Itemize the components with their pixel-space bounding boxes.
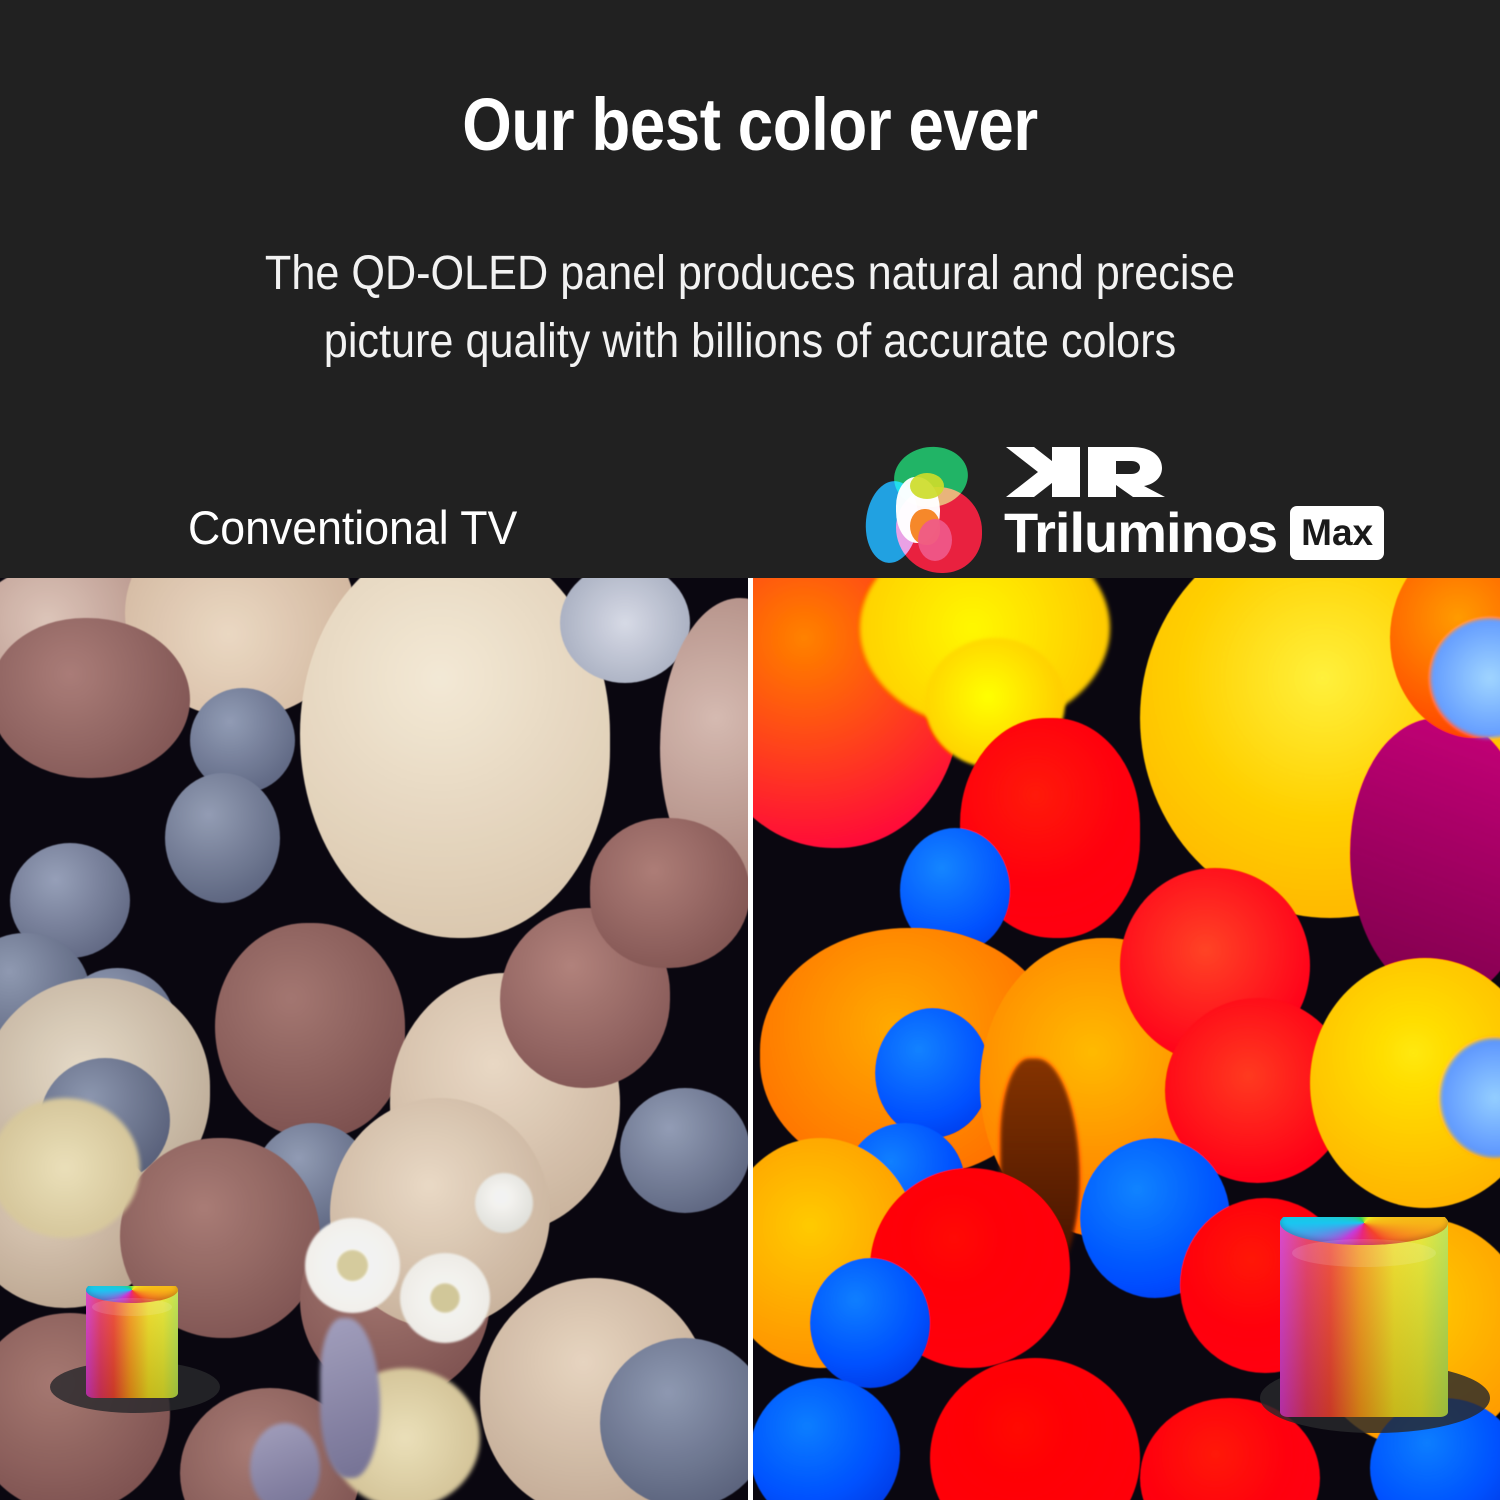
logo-blob-pink-icon [918, 519, 952, 561]
xr-triluminos-logo: Triluminos Max [866, 443, 1386, 575]
triluminos-color-blobs-icon [866, 447, 988, 573]
conventional-tv-label: Conventional TV [188, 500, 517, 555]
triluminos-wordmark: Triluminos [1004, 503, 1277, 563]
gamut-gloss-left [92, 1298, 172, 1316]
gamut-cylinder-right [1280, 1217, 1448, 1417]
promo-image-root: Our best color ever The QD-OLED panel pr… [0, 0, 1500, 1500]
logo-wordmark: Triluminos Max [1004, 443, 1384, 563]
logo-blob-yellow-icon [910, 473, 944, 499]
conventional-color-volume [40, 1278, 220, 1413]
subtitle-line-2: picture quality with billions of accurat… [75, 308, 1425, 376]
fruit-comparison-photo [0, 578, 1500, 1500]
triluminos-row: Triluminos Max [1004, 503, 1384, 563]
max-badge: Max [1290, 506, 1384, 560]
gamut-cylinder-left [86, 1286, 178, 1398]
gamut-gloss-right [1292, 1239, 1436, 1267]
page-title: Our best color ever [105, 82, 1395, 167]
xr-triluminos-color-volume [1240, 1203, 1490, 1433]
xr-wordmark-icon [1004, 443, 1384, 501]
comparison-divider [748, 578, 753, 1500]
subtitle-line-1: The QD-OLED panel produces natural and p… [75, 240, 1425, 308]
